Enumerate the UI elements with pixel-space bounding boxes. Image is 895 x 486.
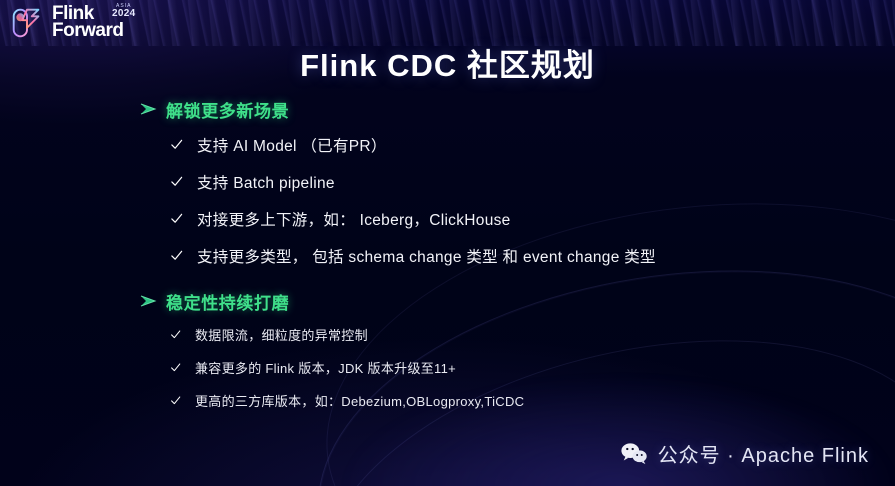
arrow-right-icon [140, 294, 157, 308]
section-heading-row: 稳定性持续打磨 [0, 284, 895, 318]
check-icon [170, 138, 183, 151]
list-item: 支持更多类型， 包括 schema change 类型 和 event chan… [0, 237, 895, 274]
wechat-icon [620, 442, 648, 465]
slide-content: 解锁更多新场景 支持 AI Model （已有PR） 支持 Batch pipe… [0, 92, 895, 419]
arrow-right-icon [140, 102, 157, 116]
list-item: 对接更多上下游，如： Iceberg，ClickHouse [0, 200, 895, 237]
list-item-text: 更高的三方库版本，如：Debezium,OBLogproxy,TiCDC [195, 391, 524, 410]
wechat-watermark: 公众号 · Apache Flink [620, 439, 869, 468]
section-unlock-scenarios: 解锁更多新场景 支持 AI Model （已有PR） 支持 Batch pipe… [0, 92, 895, 274]
section-stability-polish: 稳定性持续打磨 数据限流，细粒度的异常控制 兼容更多的 Flink 版本，JDK… [0, 284, 895, 417]
list-item: 兼容更多的 Flink 版本，JDK 版本升级至11+ [0, 351, 895, 384]
list-item: 支持 AI Model （已有PR） [0, 126, 895, 163]
list-item-text: 支持 AI Model （已有PR） [197, 134, 387, 156]
check-icon [170, 395, 181, 406]
list-item-text: 支持更多类型， 包括 schema change 类型 和 event chan… [197, 245, 656, 267]
flink-forward-squirrel-icon [8, 4, 46, 42]
event-badge: ASIA 2024 [112, 4, 135, 19]
slide-title: Flink CDC 社区规划 [0, 40, 895, 85]
check-icon [170, 329, 181, 340]
section-heading-text: 稳定性持续打磨 [166, 289, 289, 314]
list-item-text: 支持 Batch pipeline [197, 171, 335, 193]
list-item: 支持 Batch pipeline [0, 163, 895, 200]
logo-wordmark: Flink Forward ASIA 2024 [52, 4, 123, 40]
section-heading-text: 解锁更多新场景 [166, 97, 289, 122]
check-icon [170, 175, 183, 188]
list-item: 数据限流，细粒度的异常控制 [0, 318, 895, 351]
list-item-text: 兼容更多的 Flink 版本，JDK 版本升级至11+ [195, 358, 456, 377]
section-heading-row: 解锁更多新场景 [0, 92, 895, 126]
list-item: 更高的三方库版本，如：Debezium,OBLogproxy,TiCDC [0, 384, 895, 417]
logo-line-2: Forward [52, 22, 123, 39]
watermark-text: 公众号 · Apache Flink [658, 439, 869, 468]
check-icon [170, 212, 183, 225]
flink-forward-logo: Flink Forward ASIA 2024 [8, 4, 123, 42]
check-icon [170, 249, 183, 262]
list-item-text: 数据限流，细粒度的异常控制 [195, 325, 368, 344]
badge-year: 2024 [112, 9, 135, 19]
check-icon [170, 362, 181, 373]
list-item-text: 对接更多上下游，如： Iceberg，ClickHouse [197, 208, 511, 230]
slide-canvas: Flink Forward ASIA 2024 Flink CDC 社区规划 解… [0, 0, 895, 486]
